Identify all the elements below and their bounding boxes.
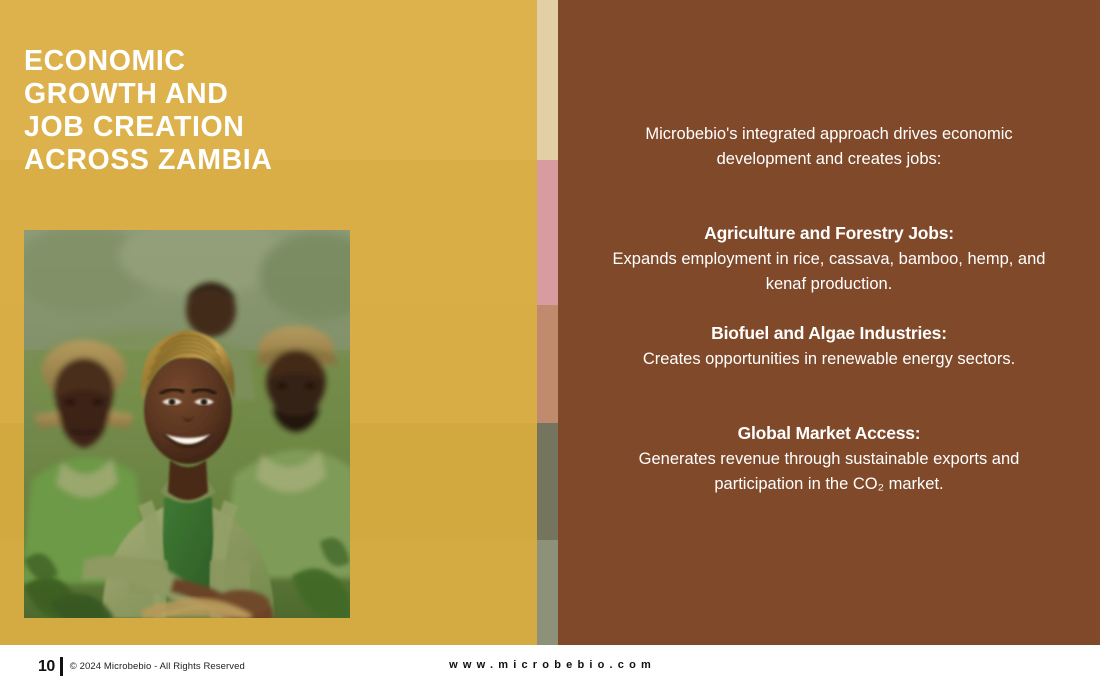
content-block-global-market: Global Market Access: Generates revenue …	[608, 422, 1050, 497]
block-heading: Agriculture and Forestry Jobs:	[608, 222, 1050, 245]
slide-footer: 10 © 2024 Microbebio - All Rights Reserv…	[0, 645, 1100, 700]
website-url: www.microbebio.com	[0, 659, 1100, 671]
block-heading: Biofuel and Algae Industries:	[608, 322, 1050, 345]
block-body: Expands employment in rice, cassava, bam…	[608, 247, 1050, 297]
content-block-agriculture: Agriculture and Forestry Jobs: Expands e…	[608, 222, 1050, 297]
strip-band-olive	[537, 423, 558, 540]
strip-band-sage	[537, 540, 558, 645]
strip-band-pink	[537, 160, 558, 305]
strip-band-salmon	[537, 305, 558, 423]
slide-title: ECONOMIC GROWTH AND JOB CREATION ACROSS …	[24, 45, 464, 177]
block-heading: Global Market Access:	[608, 422, 1050, 445]
vertical-color-strip	[537, 0, 558, 645]
intro-paragraph: Microbebio's integrated approach drives …	[608, 122, 1050, 172]
block-body: Creates opportunities in renewable energ…	[608, 347, 1050, 372]
content-block-biofuel: Biofuel and Algae Industries: Creates op…	[608, 322, 1050, 372]
slide: ECONOMIC GROWTH AND JOB CREATION ACROSS …	[0, 0, 1100, 700]
farm-workers-photo	[24, 230, 350, 618]
block-body: Generates revenue through sustainable ex…	[608, 447, 1050, 497]
strip-band-cream	[537, 0, 558, 160]
right-brown-panel: Microbebio's integrated approach drives …	[558, 0, 1100, 645]
